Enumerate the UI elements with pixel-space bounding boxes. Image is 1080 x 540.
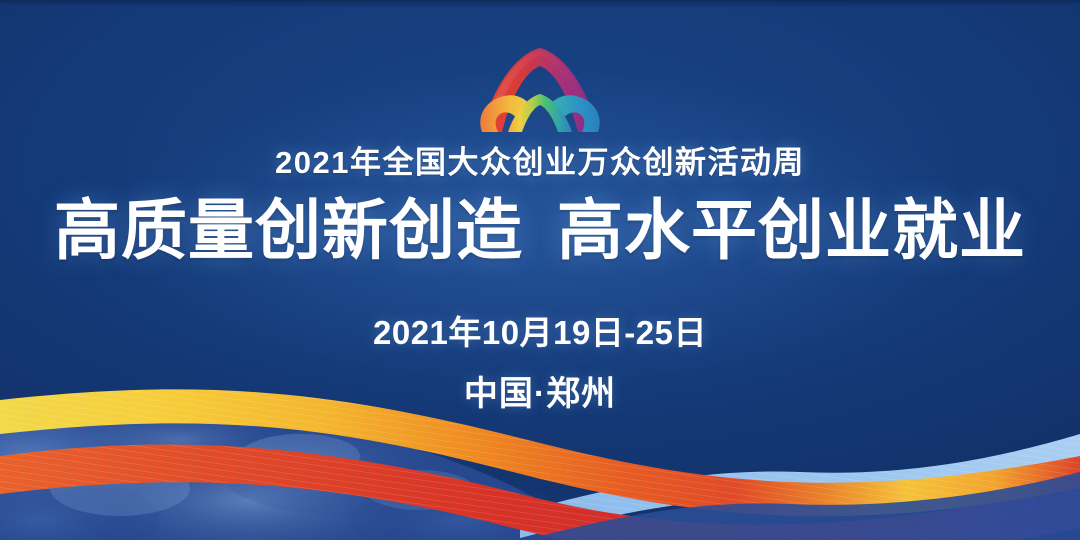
headline-right: 高水平创业就业 (557, 193, 1026, 267)
top-edge-strip (0, 0, 1080, 7)
headline-left: 高质量创新创造 (54, 193, 523, 267)
event-place: 中国·郑州 (0, 366, 1080, 415)
event-date: 2021年10月19日-25日 (0, 306, 1080, 354)
event-headline: 高质量创新创造高水平创业就业 (0, 194, 1080, 268)
banner-text-block: 2021年全国大众创业万众创新活动周 高质量创新创造高水平创业就业 2021年1… (0, 146, 1080, 415)
shuangchuang-arch-logo (460, 34, 620, 146)
logo-container (0, 34, 1080, 146)
event-banner: 2021年全国大众创业万众创新活动周 高质量创新创造高水平创业就业 2021年1… (0, 0, 1080, 540)
event-subtitle: 2021年全国大众创业万众创新活动周 (0, 146, 1080, 180)
